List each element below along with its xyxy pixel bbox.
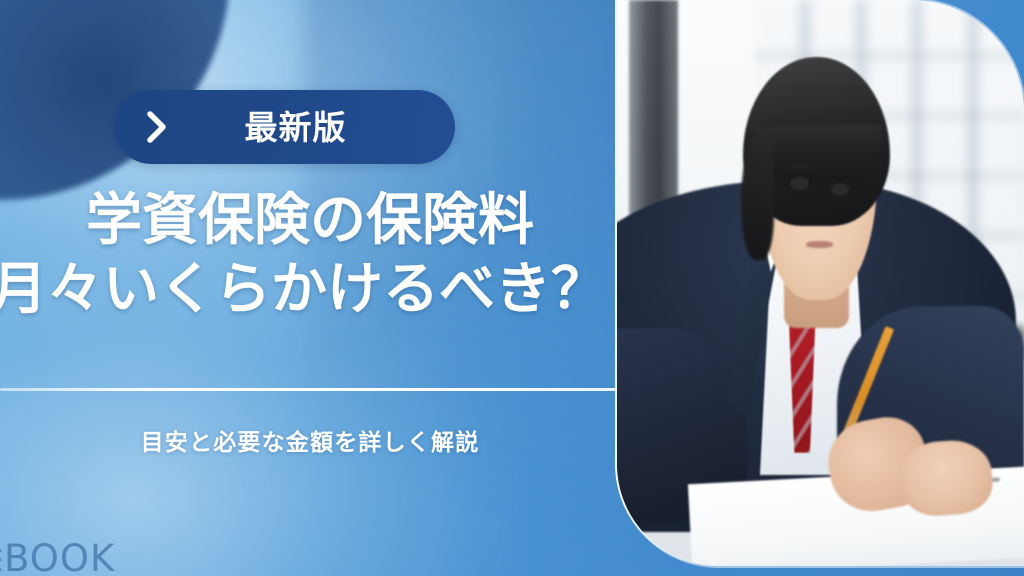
student-photo-image xyxy=(617,0,1024,566)
photo-scene xyxy=(617,0,1024,566)
photo-eyebrow xyxy=(787,164,811,170)
photo-mouth xyxy=(806,241,832,248)
site-watermark: 除BOOK xyxy=(0,528,115,576)
photo-hair-sideburn xyxy=(741,136,774,261)
photo-eye-right xyxy=(831,183,849,195)
photo-resting-hand xyxy=(899,438,993,518)
photo-eye-left xyxy=(790,177,809,190)
headline-line-1: 学資保険の保険料 xyxy=(0,186,620,255)
subtitle: 目安と必要な金額を詳しく解説 xyxy=(0,423,620,457)
badge-label: 最新版 xyxy=(170,111,455,144)
latest-version-badge[interactable]: 最新版 xyxy=(114,90,455,164)
headline: 学資保険の保険料 月々いくらかけるべき？ xyxy=(0,186,620,325)
student-photo xyxy=(617,0,1024,566)
thumbnail-canvas: 最新版 学資保険の保険料 月々いくらかけるべき？ 目安と必要な金額を詳しく解説 … xyxy=(0,0,1024,576)
divider-rule xyxy=(0,388,617,391)
chevron-right-icon xyxy=(144,110,170,144)
headline-line-2: 月々いくらかけるべき？ xyxy=(0,255,620,324)
